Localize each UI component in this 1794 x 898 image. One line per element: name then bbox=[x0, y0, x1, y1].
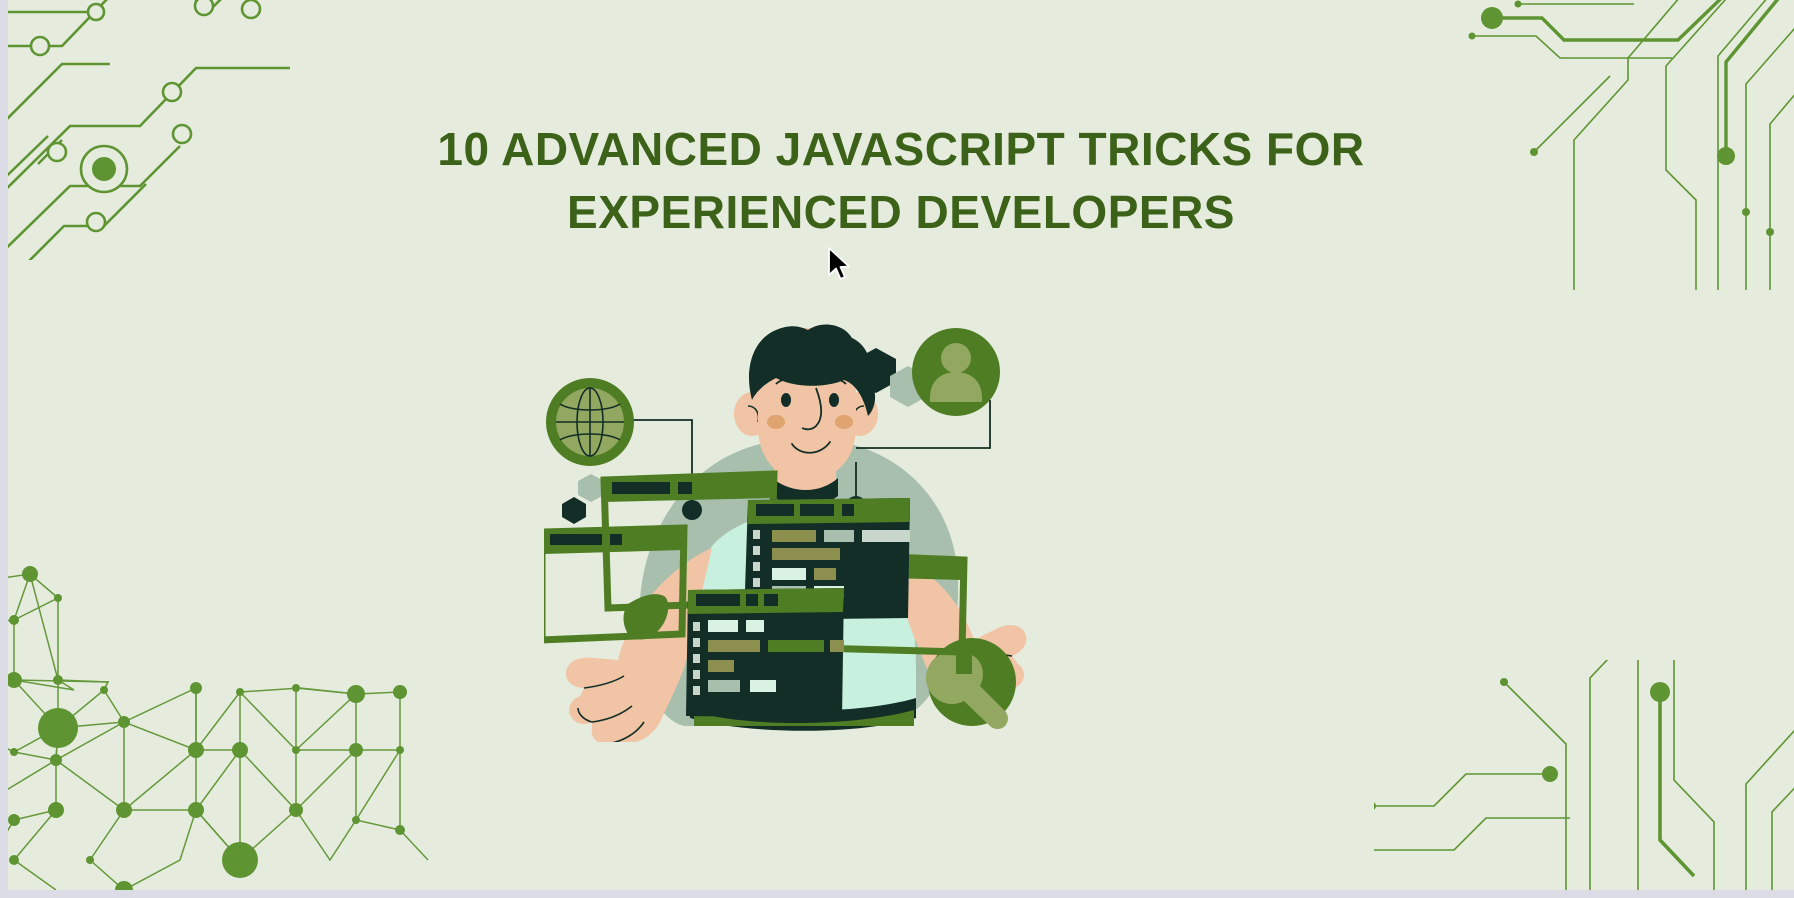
hexagon-muted-small bbox=[578, 474, 604, 502]
hexagon-dark-small bbox=[562, 497, 586, 524]
page-title: 10 ADVANCED JAVASCRIPT TRICKS FOR EXPERI… bbox=[8, 118, 1794, 245]
page-title-line-2: EXPERIENCED DEVELOPERS bbox=[8, 181, 1794, 244]
mouse-pointer-icon bbox=[826, 246, 852, 284]
globe-icon bbox=[546, 378, 634, 466]
window-edge-bottom bbox=[0, 890, 1794, 898]
developer-coding-illustration bbox=[544, 322, 1064, 742]
network-decoration-bottom-left bbox=[8, 560, 460, 890]
user-icon bbox=[912, 328, 1000, 416]
window-edge-left bbox=[0, 0, 8, 898]
code-window-filled-e bbox=[686, 588, 844, 718]
page-title-line-1: 10 ADVANCED JAVASCRIPT TRICKS FOR bbox=[8, 118, 1794, 181]
page-viewport: 10 ADVANCED JAVASCRIPT TRICKS FOR EXPERI… bbox=[0, 0, 1794, 898]
page-surface: 10 ADVANCED JAVASCRIPT TRICKS FOR EXPERI… bbox=[8, 0, 1794, 890]
circuit-decoration-bottom-right bbox=[1374, 660, 1794, 890]
